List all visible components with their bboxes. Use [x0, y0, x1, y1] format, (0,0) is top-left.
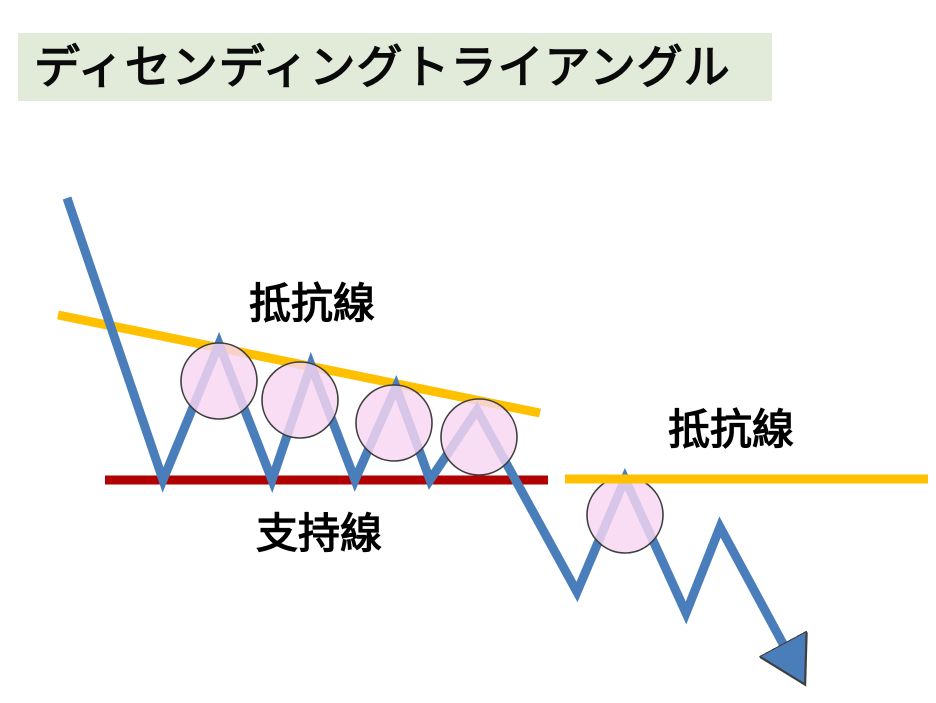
support-label: 支持線	[256, 513, 382, 555]
chart-canvas	[0, 0, 936, 703]
highlight-circle-peak-3	[356, 385, 432, 461]
highlight-circle-peak-2	[262, 362, 338, 438]
highlight-circle-retest	[587, 477, 663, 553]
highlight-circle-peak-1	[181, 343, 257, 419]
highlight-circle-peak-4	[441, 399, 517, 475]
resistance-label-right: 抵抗線	[668, 409, 794, 451]
highlight-circles-group	[181, 343, 663, 553]
resistance-label-left: 抵抗線	[249, 283, 375, 325]
descending-triangle-diagram: ディセンディングトライアングル 抵抗線 支持線 抵抗線	[0, 0, 936, 703]
